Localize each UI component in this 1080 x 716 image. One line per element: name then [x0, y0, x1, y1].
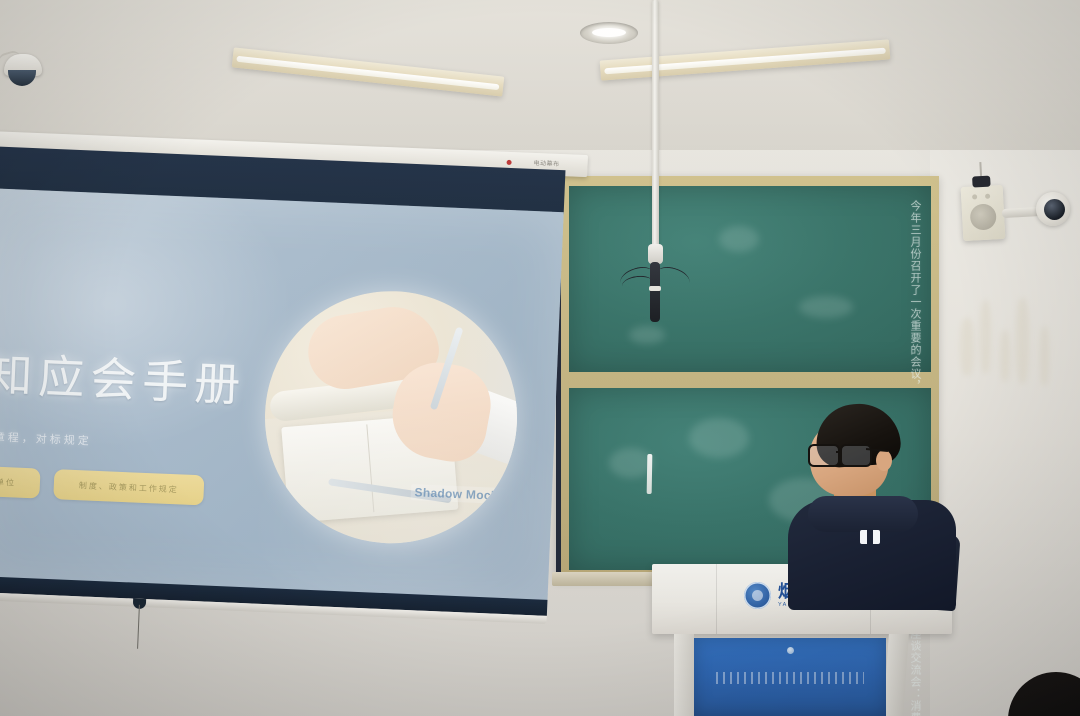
- slide-photo: Shadow Mock: [260, 286, 522, 548]
- panel-keys: [716, 672, 864, 684]
- glasses-icon: [808, 444, 880, 464]
- wall-camera-icon: [1036, 192, 1070, 226]
- projected-slide: Shadow Mock 应知应会手册 熟记章程，对标规定 第一工作单位 制度、政…: [0, 188, 564, 602]
- microphone-joint: [648, 244, 663, 264]
- classroom-photo: 今年三月份召开了一次重要的会议，明确了五项主要任务和六条具体措施 师生座谈交流会…: [0, 0, 1080, 716]
- hoodie-chest-logo: [860, 530, 880, 544]
- slide-title: 应知应会手册: [0, 336, 248, 415]
- lectern-display-panel[interactable]: [694, 638, 886, 716]
- slide-pill: 第一工作单位: [0, 464, 41, 498]
- microphone-pole: [652, 0, 659, 250]
- wall-stain: [1016, 298, 1029, 384]
- wall-stain: [1000, 330, 1010, 382]
- recessed-ceiling-light-icon: [580, 22, 638, 44]
- slide-pill-row: 第一工作单位 制度、政策和工作规定: [0, 464, 204, 505]
- hanging-microphone-icon: [650, 262, 660, 322]
- lectern-leg: [674, 634, 694, 716]
- chalk-icon: [647, 454, 653, 494]
- wall-stain: [1040, 326, 1049, 386]
- status-indicator: [507, 160, 512, 165]
- presenter: [788, 404, 958, 604]
- ceiling-dome-camera-icon: [2, 52, 44, 90]
- projector-glare: [0, 188, 306, 461]
- wall-stain: [960, 318, 974, 376]
- projector-screen: Shadow Mock 应知应会手册 熟记章程，对标规定 第一工作单位 制度、政…: [0, 146, 565, 640]
- slide-subtitle: 熟记章程，对标规定: [0, 427, 92, 448]
- microphone-band: [649, 286, 661, 291]
- wall-stain: [980, 300, 991, 374]
- slide-pill: 制度、政策和工作规定: [53, 469, 204, 505]
- blackboard-text-upper: 今年三月份召开了一次重要的会议，明确了五项主要任务和六条具体措施: [908, 200, 921, 368]
- lectern-leg: [883, 634, 909, 716]
- presenter-hood: [808, 496, 918, 532]
- wall-speaker-icon: [961, 185, 1006, 241]
- screen-housing-label: 电动幕布: [533, 158, 559, 168]
- university-emblem-icon: [744, 582, 771, 609]
- panel-camera-icon: [787, 647, 794, 654]
